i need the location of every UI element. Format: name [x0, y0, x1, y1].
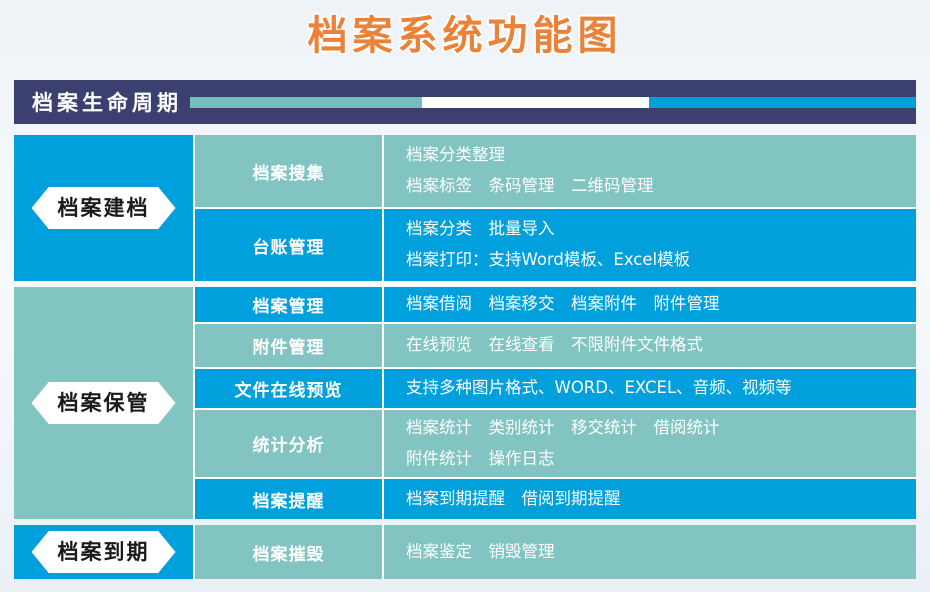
function-matrix: 档案建档档案搜集档案分类整理档案标签 条码管理 二维码管理台账管理档案分类 批量… — [14, 135, 916, 579]
function-name[interactable]: 台账管理 — [195, 209, 384, 281]
lifecycle-progress-bar — [190, 97, 916, 108]
function-name[interactable]: 档案搜集 — [195, 135, 384, 207]
stage-group: 档案建档档案搜集档案分类整理档案标签 条码管理 二维码管理台账管理档案分类 批量… — [14, 135, 916, 281]
stage-group: 档案保管档案管理档案借阅 档案移交 档案附件 附件管理附件管理在线预览 在线查看… — [14, 287, 916, 519]
stage-cell[interactable]: 档案到期 — [14, 525, 195, 579]
function-detail: 支持多种图片格式、WORD、EXCEL、音频、视频等 — [384, 369, 916, 408]
function-detail: 档案鉴定 销毁管理 — [384, 525, 916, 579]
detail-line: 档案鉴定 销毁管理 — [406, 537, 916, 568]
function-rows: 档案搜集档案分类整理档案标签 条码管理 二维码管理台账管理档案分类 批量导入档案… — [195, 135, 916, 281]
lifecycle-segment-collect — [190, 97, 422, 108]
lifecycle-banner-label: 档案生命周期 — [14, 87, 182, 117]
stage-group: 档案到期档案摧毁档案鉴定 销毁管理 — [14, 525, 916, 579]
function-row[interactable]: 文件在线预览支持多种图片格式、WORD、EXCEL、音频、视频等 — [195, 369, 916, 410]
function-row[interactable]: 档案搜集档案分类整理档案标签 条码管理 二维码管理 — [195, 135, 916, 209]
function-detail: 档案统计 类别统计 移交统计 借阅统计附件统计 操作日志 — [384, 410, 916, 477]
function-row[interactable]: 档案管理档案借阅 档案移交 档案附件 附件管理 — [195, 287, 916, 324]
detail-line: 档案到期提醒 借阅到期提醒 — [406, 484, 916, 515]
stage-label: 档案保管 — [32, 382, 176, 424]
function-detail: 档案分类 批量导入档案打印：支持Word模板、Excel模板 — [384, 209, 916, 281]
function-name[interactable]: 档案摧毁 — [195, 525, 384, 579]
detail-line: 档案借阅 档案移交 档案附件 附件管理 — [406, 289, 916, 320]
detail-line: 附件统计 操作日志 — [406, 444, 916, 475]
function-name[interactable]: 档案管理 — [195, 287, 384, 322]
title-bar: 档案系统功能图 — [0, 0, 930, 72]
detail-line: 档案分类 批量导入 — [406, 214, 916, 245]
page-title: 档案系统功能图 — [308, 16, 623, 56]
function-detail: 档案到期提醒 借阅到期提醒 — [384, 479, 916, 519]
stage-label: 档案建档 — [32, 187, 176, 229]
detail-line: 在线预览 在线查看 不限附件文件格式 — [406, 330, 916, 361]
lifecycle-banner: 档案生命周期 — [14, 80, 916, 124]
stage-label: 档案到期 — [32, 531, 176, 573]
function-name[interactable]: 文件在线预览 — [195, 369, 384, 408]
stage-cell[interactable]: 档案保管 — [14, 287, 195, 519]
function-name[interactable]: 统计分析 — [195, 410, 384, 477]
function-rows: 档案摧毁档案鉴定 销毁管理 — [195, 525, 916, 579]
lifecycle-segment-expire — [649, 97, 916, 108]
detail-line: 档案分类整理 — [406, 140, 916, 171]
detail-line: 支持多种图片格式、WORD、EXCEL、音频、视频等 — [406, 373, 916, 404]
detail-line: 档案打印：支持Word模板、Excel模板 — [406, 245, 916, 276]
stage-cell[interactable]: 档案建档 — [14, 135, 195, 281]
function-name[interactable]: 附件管理 — [195, 324, 384, 367]
function-detail: 档案借阅 档案移交 档案附件 附件管理 — [384, 287, 916, 322]
function-detail: 档案分类整理档案标签 条码管理 二维码管理 — [384, 135, 916, 207]
function-row[interactable]: 档案摧毁档案鉴定 销毁管理 — [195, 525, 916, 579]
lifecycle-segment-keep — [422, 97, 649, 108]
function-row[interactable]: 档案提醒档案到期提醒 借阅到期提醒 — [195, 479, 916, 519]
function-name[interactable]: 档案提醒 — [195, 479, 384, 519]
function-rows: 档案管理档案借阅 档案移交 档案附件 附件管理附件管理在线预览 在线查看 不限附… — [195, 287, 916, 519]
detail-line: 档案标签 条码管理 二维码管理 — [406, 171, 916, 202]
function-row[interactable]: 附件管理在线预览 在线查看 不限附件文件格式 — [195, 324, 916, 369]
function-row[interactable]: 台账管理档案分类 批量导入档案打印：支持Word模板、Excel模板 — [195, 209, 916, 281]
function-detail: 在线预览 在线查看 不限附件文件格式 — [384, 324, 916, 367]
function-row[interactable]: 统计分析档案统计 类别统计 移交统计 借阅统计附件统计 操作日志 — [195, 410, 916, 479]
detail-line: 档案统计 类别统计 移交统计 借阅统计 — [406, 413, 916, 444]
